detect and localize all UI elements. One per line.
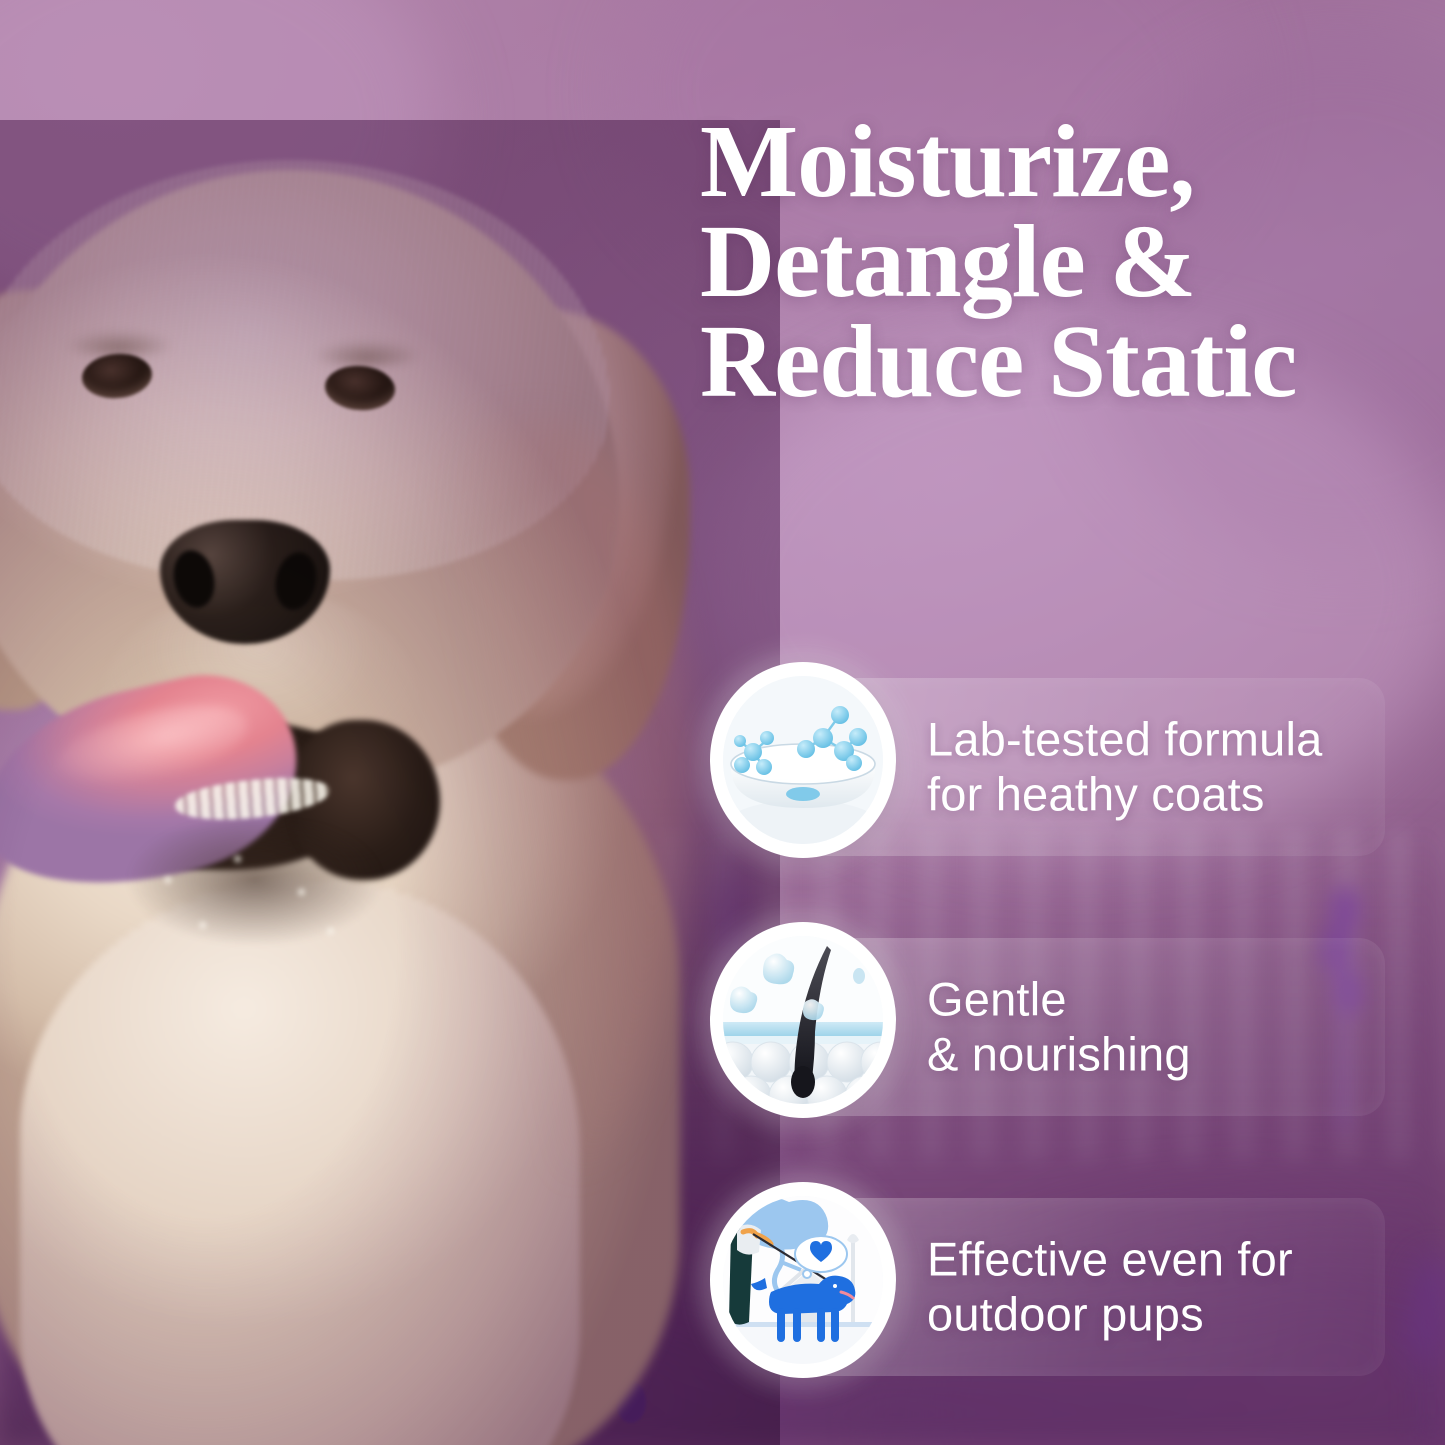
product-feature-banner: Moisturize, Detangle & Reduce Static Lab… [0, 0, 1445, 1445]
page-title: Moisturize, Detangle & Reduce Static [700, 112, 1435, 411]
headline-line-2: Detangle & [700, 212, 1435, 312]
dog-walking-outdoors-icon [710, 1182, 896, 1378]
petri-dish-molecule-icon [710, 662, 896, 858]
feature-label-line-2: for heathy coats [927, 767, 1322, 822]
headline-line-3: Reduce Static [700, 312, 1435, 412]
lavender-sprig-icon [1380, 1250, 1445, 1445]
headline-line-1: Moisturize, [700, 112, 1435, 212]
feature-label-line-2: outdoor pups [927, 1287, 1293, 1342]
feature-label: Effective even for outdoor pups [927, 1232, 1293, 1341]
hair-follicle-hydration-icon [710, 922, 896, 1118]
feature-label: Gentle & nourishing [927, 972, 1191, 1081]
dog-photo [0, 120, 780, 1445]
feature-label-line-1: Effective even for [927, 1232, 1293, 1287]
feature-label-line-1: Lab-tested formula [927, 712, 1322, 767]
feature-label: Lab-tested formula for heathy coats [927, 712, 1322, 821]
feature-label-line-1: Gentle [927, 972, 1191, 1027]
feature-label-line-2: & nourishing [927, 1027, 1191, 1082]
